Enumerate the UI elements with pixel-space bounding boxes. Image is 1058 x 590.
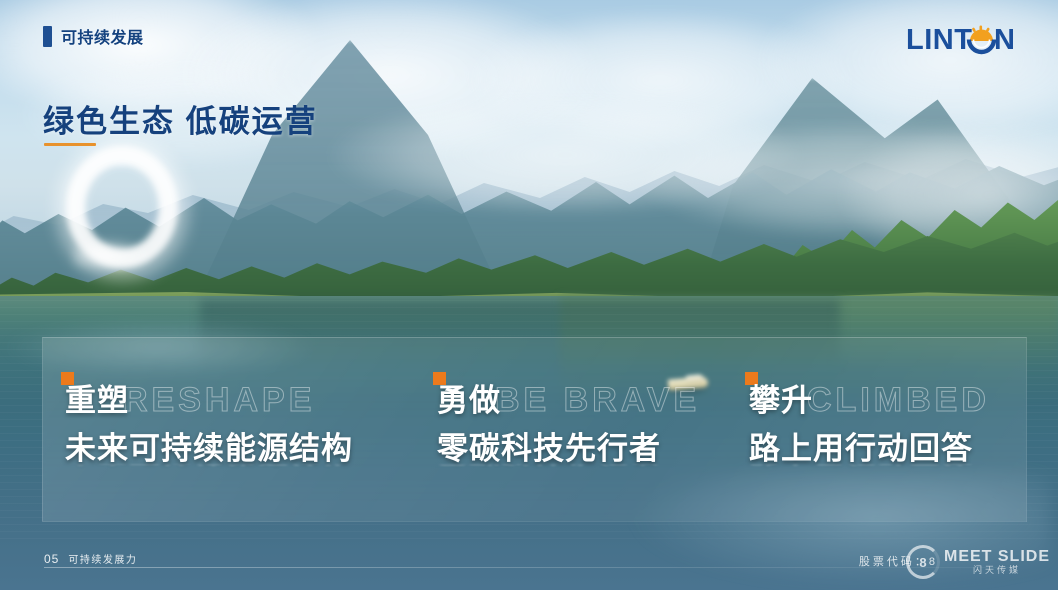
kicker-cn-text: 攀升 (749, 375, 813, 420)
footer-section-label: 可持续发展力 (68, 551, 137, 566)
statement-column: 勇做 BE BRAVE 零碳科技先行者 零碳科技先行者 (415, 375, 727, 484)
statement-column: 重塑 RESHAPE 未来可持续能源结构 未来可持续能源结构 (43, 375, 415, 484)
statement-headline: 零碳科技先行者 (437, 423, 727, 468)
statement-kicker: 攀升 CLIMBED (749, 375, 1027, 419)
title-underline (44, 143, 96, 146)
header-badge-label: 可持续发展 (61, 24, 144, 48)
kicker-en-text: BE BRAVE (495, 381, 700, 420)
kicker-cn-text: 勇做 (437, 375, 501, 420)
footer-left: 05 可持续发展力 (44, 551, 137, 566)
page-title: 绿色生态 低碳运营 (43, 96, 318, 141)
kicker-en-text: CLIMBED (807, 381, 990, 420)
statement-headline: 路上用行动回答 (749, 423, 1027, 468)
kicker-cn-text: 重塑 (65, 375, 129, 420)
logo-wordmark-right: N (994, 24, 1015, 56)
watermark-brand-en: MEET SLIDE (944, 549, 1050, 566)
linton-logo-svg: LINT N (906, 22, 1022, 56)
statement-kicker: 重塑 RESHAPE (65, 375, 415, 419)
page-number: 05 (44, 552, 59, 566)
watermark-brand-cn: 闪天传媒 (944, 566, 1050, 575)
statement-headline: 未来可持续能源结构 (65, 423, 415, 468)
header-badge: 可持续发展 (43, 24, 144, 48)
sun-over-wave-mark (969, 26, 994, 53)
slide-canvas: 可持续发展 LINT N 绿色生态 低碳运营 重塑 RESHAPE (0, 0, 1058, 590)
linton-logo: LINT N (906, 22, 1022, 56)
kicker-en-text: RESHAPE (123, 381, 315, 420)
watermark-ring-icon: 8 (906, 545, 940, 579)
statement-panel: 重塑 RESHAPE 未来可持续能源结构 未来可持续能源结构 勇做 BE BRA… (42, 337, 1027, 522)
statement-kicker: 勇做 BE BRAVE (437, 375, 727, 419)
watermark-words: MEET SLIDE 闪天传媒 (944, 549, 1050, 575)
zero-shaped-cloud-tail (74, 238, 154, 272)
watermark-ring-digit: 8 (919, 555, 926, 570)
meet-slide-watermark: 8 MEET SLIDE 闪天传媒 (906, 545, 1050, 579)
logo-wordmark-left: LINT (906, 24, 972, 56)
statement-column: 攀升 CLIMBED 路上用行动回答 路上用行动回答 (727, 375, 1027, 484)
header-accent-bar (43, 26, 52, 47)
